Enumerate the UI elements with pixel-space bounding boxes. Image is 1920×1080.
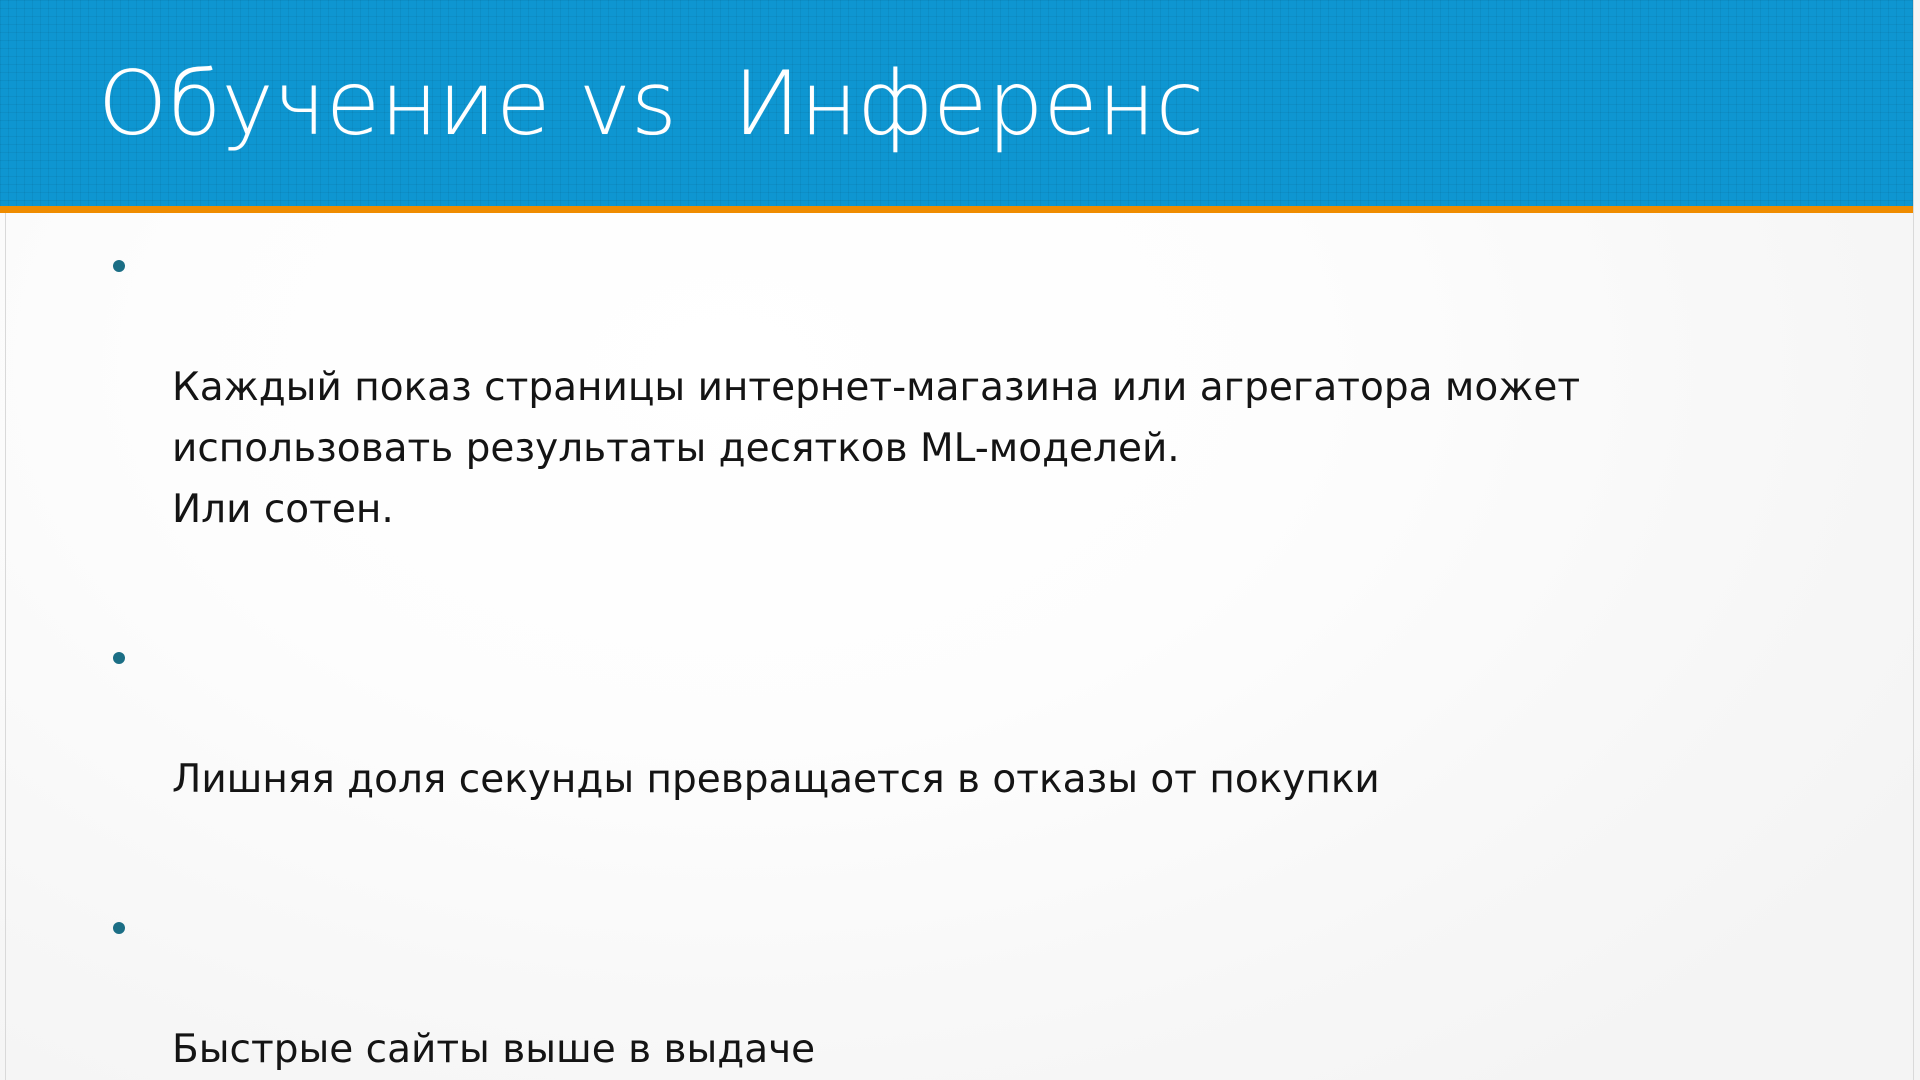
header-accent-bar (0, 206, 1913, 213)
bullet-dot-icon (113, 652, 125, 664)
bullet-text: Быстрые сайты выше в выдаче (172, 1019, 1844, 1080)
bullet-text: Лишняя доля секунды превращается в отказ… (172, 749, 1844, 810)
list-item: Быстрые сайты выше в выдаче (104, 897, 1844, 1080)
list-item: Каждый показ страницы интернет-магазина … (104, 235, 1844, 601)
bullet-list: Каждый показ страницы интернет-магазина … (104, 235, 1844, 1080)
slide-body: Каждый показ страницы интернет-магазина … (0, 213, 1920, 1080)
bullet-text: Каждый показ страницы интернет-магазина … (172, 357, 1844, 540)
slide-header-band: Обучение vs Инференс (0, 0, 1913, 206)
bullet-dot-icon (113, 260, 125, 272)
presentation-slide: Обучение vs Инференс Каждый показ страни… (0, 0, 1920, 1080)
bullet-dot-icon (113, 922, 125, 934)
slide-title: Обучение vs Инференс (98, 48, 1204, 160)
list-item: Лишняя доля секунды превращается в отказ… (104, 627, 1844, 871)
